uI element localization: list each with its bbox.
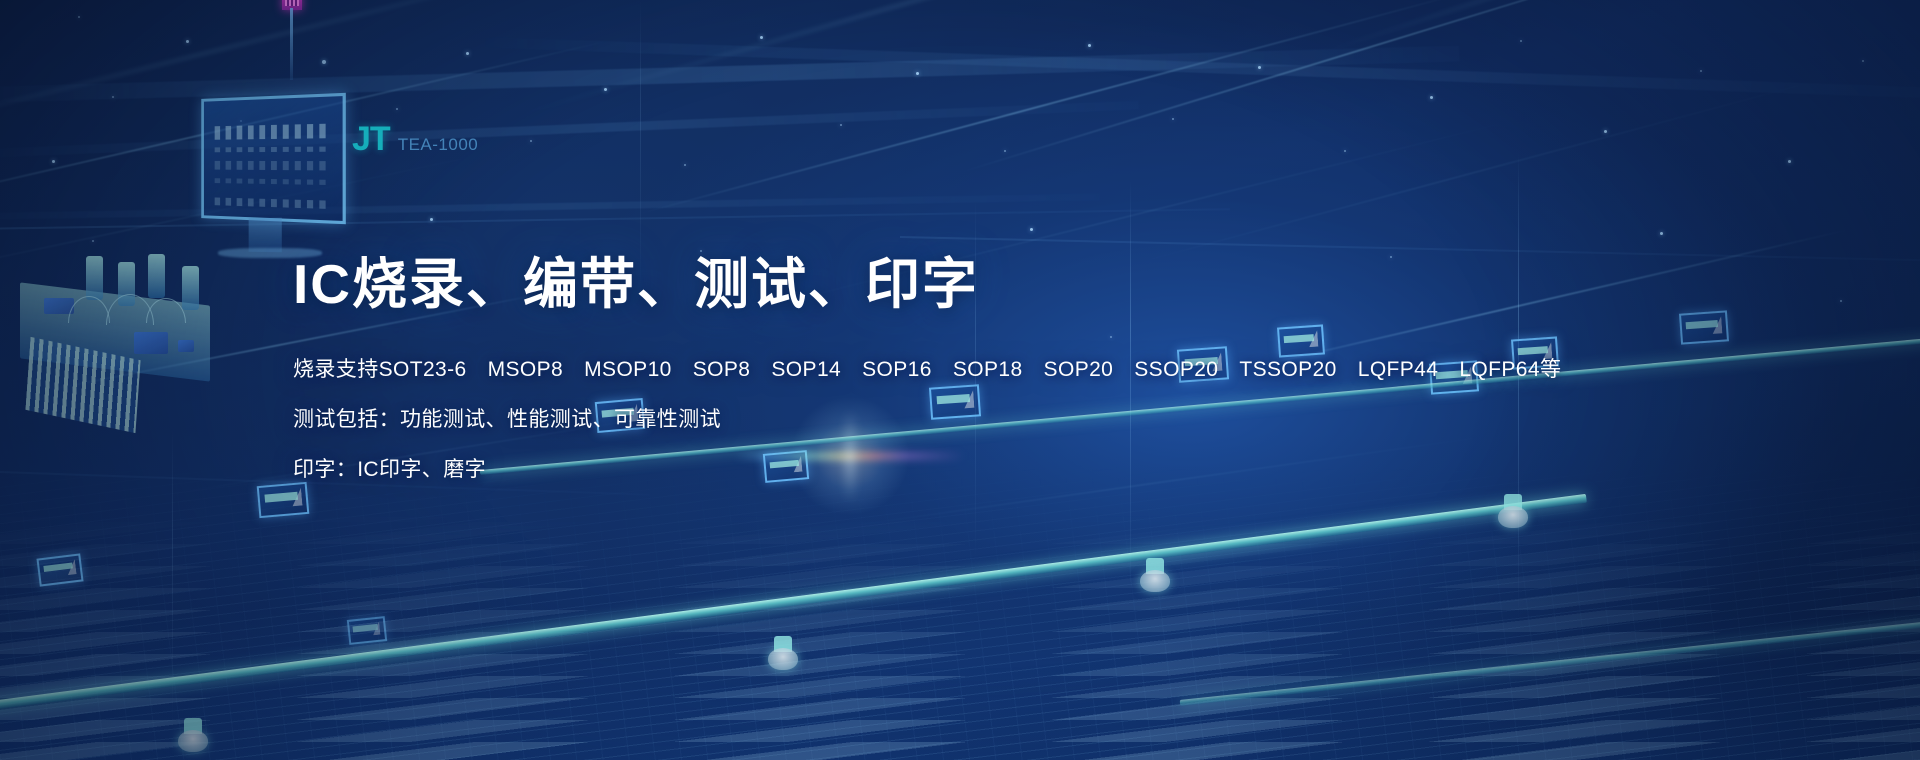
package-type: MSOP8 — [488, 359, 564, 380]
package-type: TSSOP20 — [1239, 359, 1336, 380]
page-title: IC烧录、编带、测试、印字 — [293, 252, 1493, 317]
banner-text-content: IC烧录、编带、测试、印字 烧录支持SOT23-6MSOP8MSOP10SOP8… — [293, 252, 1493, 480]
brand-watermark: JT TEA-1000 — [352, 122, 478, 156]
marking-line: 印字：IC印字、磨字 — [293, 459, 1493, 480]
package-type: SOP16 — [862, 359, 932, 380]
testing-line: 测试包括：功能测试、性能测试、可靠性测试 — [293, 409, 1493, 430]
package-type: LQFP64等 — [1459, 359, 1561, 380]
package-type: SOP8 — [693, 359, 751, 380]
package-type: SOP20 — [1044, 359, 1114, 380]
brand-logo-text: JT — [352, 122, 390, 156]
package-type: LQFP44 — [1358, 359, 1439, 380]
package-type: SOP14 — [771, 359, 841, 380]
package-type: SSOP20 — [1134, 359, 1218, 380]
burn-support-line: 烧录支持SOT23-6MSOP8MSOP10SOP8SOP14SOP16SOP1… — [293, 359, 1493, 380]
package-type: MSOP10 — [584, 359, 672, 380]
service-detail-list: 烧录支持SOT23-6MSOP8MSOP10SOP8SOP14SOP16SOP1… — [293, 359, 1493, 480]
package-list: MSOP8MSOP10SOP8SOP14SOP16SOP18SOP20SSOP2… — [488, 358, 1562, 381]
ic-service-hero-banner: JT TEA-1000 IC烧录、编带、测试、印字 烧录支持SOT23-6MSO… — [0, 0, 1920, 760]
brand-model-text: TEA-1000 — [398, 136, 479, 153]
package-type: SOP18 — [953, 359, 1023, 380]
burn-support-label: 烧录支持SOT23-6 — [293, 359, 467, 380]
